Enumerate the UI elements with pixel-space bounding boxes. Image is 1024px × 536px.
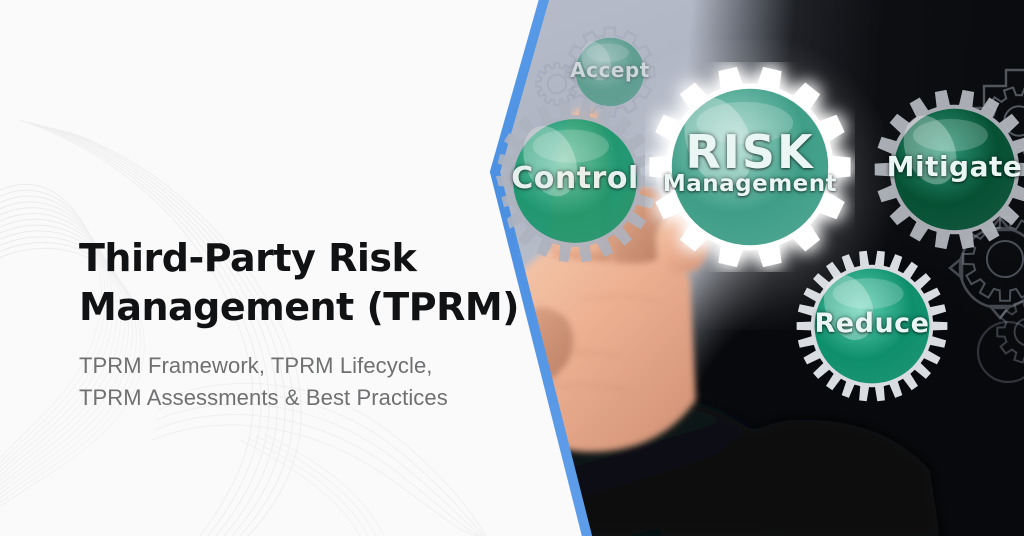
tprm-banner: Third-Party Risk Management (TPRM) TPRM … <box>0 0 1024 536</box>
page-title-line-1: Third-Party Risk <box>79 236 416 280</box>
headline-block: Third-Party Risk Management (TPRM) TPRM … <box>79 234 549 414</box>
page-subtitle-line-1: TPRM Framework, TPRM Lifecycle, <box>79 353 433 378</box>
page-title: Third-Party Risk Management (TPRM) <box>79 234 549 332</box>
page-subtitle: TPRM Framework, TPRM Lifecycle, TPRM Ass… <box>79 350 549 414</box>
page-subtitle-line-2: TPRM Assessments & Best Practices <box>79 385 448 410</box>
page-title-line-2: Management (TPRM) <box>79 285 519 329</box>
